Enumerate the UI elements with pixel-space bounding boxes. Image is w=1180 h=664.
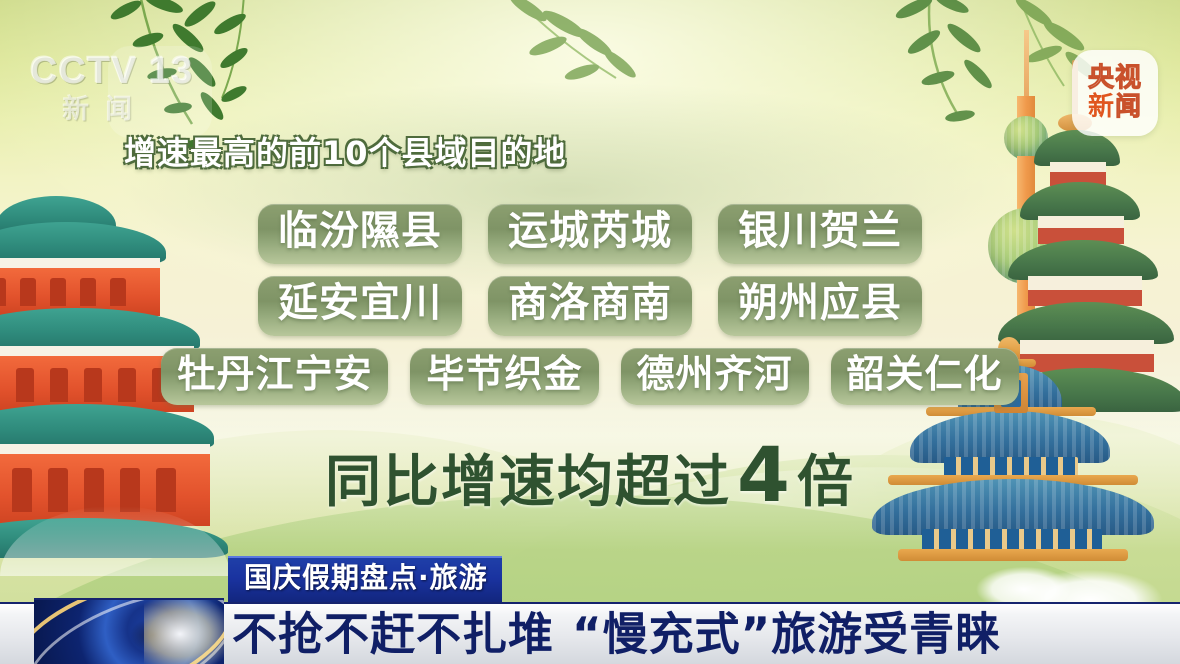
county-chip: 牡丹江宁安 — [161, 348, 388, 405]
cctv-news-logo-char-wen: 闻 — [1115, 92, 1142, 122]
willow-branch-center-icon — [498, 0, 698, 124]
globe-glow — [144, 598, 224, 664]
lower-third-bar: 不抢不赶不扎堆“慢充式”旅游受青睐 — [0, 602, 1180, 664]
county-chip-row-3: 牡丹江宁安 毕节织金 德州齐河 韶关仁化 — [0, 348, 1180, 405]
county-chip: 朔州应县 — [718, 276, 922, 336]
globe-graphic — [34, 598, 224, 664]
county-chip-row-1: 临汾隰县 运城芮城 银川贺兰 — [0, 204, 1180, 264]
headline-part-1: 不抢不赶不扎堆 — [232, 608, 554, 661]
lower-third-headline: 不抢不赶不扎堆“慢充式”旅游受青睐 — [232, 612, 1001, 657]
slide-conclusion: 同比增速均超过4倍 — [0, 430, 1180, 519]
cctv-news-logo-char-xin: 新 — [1088, 92, 1115, 122]
county-chip: 商洛商南 — [488, 276, 692, 336]
category-tag: 国庆假期盘点·旅游 — [228, 556, 502, 602]
conclusion-prefix: 同比增速均超过 — [325, 450, 731, 515]
headline-part-2: “慢充式”旅游受青睐 — [572, 608, 1001, 661]
county-chip: 延安宜川 — [258, 276, 462, 336]
county-chip: 毕节织金 — [410, 348, 598, 405]
county-chip: 银川贺兰 — [718, 204, 922, 264]
cctv-news-logo: 央视 新闻 — [1072, 50, 1158, 136]
county-chip: 德州齐河 — [621, 348, 809, 405]
slide-kicker-title: 增速最高的前10个县域目的地 — [124, 128, 567, 174]
channel-bug-cctv13: CCTV 13 新闻 — [30, 52, 230, 132]
cctv-news-logo-line2: 新闻 — [1088, 94, 1142, 121]
conclusion-suffix: 倍 — [797, 450, 855, 515]
conclusion-number: 4 — [731, 430, 797, 519]
broadcast-screen: CCTV 13 新闻 央视 新闻 增速最高的前10个县域目的地 临汾隰县 运城芮… — [0, 0, 1180, 664]
county-chip-row-2: 延安宜川 商洛商南 朔州应县 — [0, 276, 1180, 336]
cctv-news-logo-line1: 央视 — [1088, 65, 1142, 92]
county-chip: 临汾隰县 — [258, 204, 462, 264]
channel-bug-glass — [108, 46, 212, 138]
county-chip: 韶关仁化 — [831, 348, 1019, 405]
county-chip-list: 临汾隰县 运城芮城 银川贺兰 延安宜川 商洛商南 朔州应县 牡丹江宁安 毕节织金… — [0, 204, 1180, 417]
county-chip: 运城芮城 — [488, 204, 692, 264]
